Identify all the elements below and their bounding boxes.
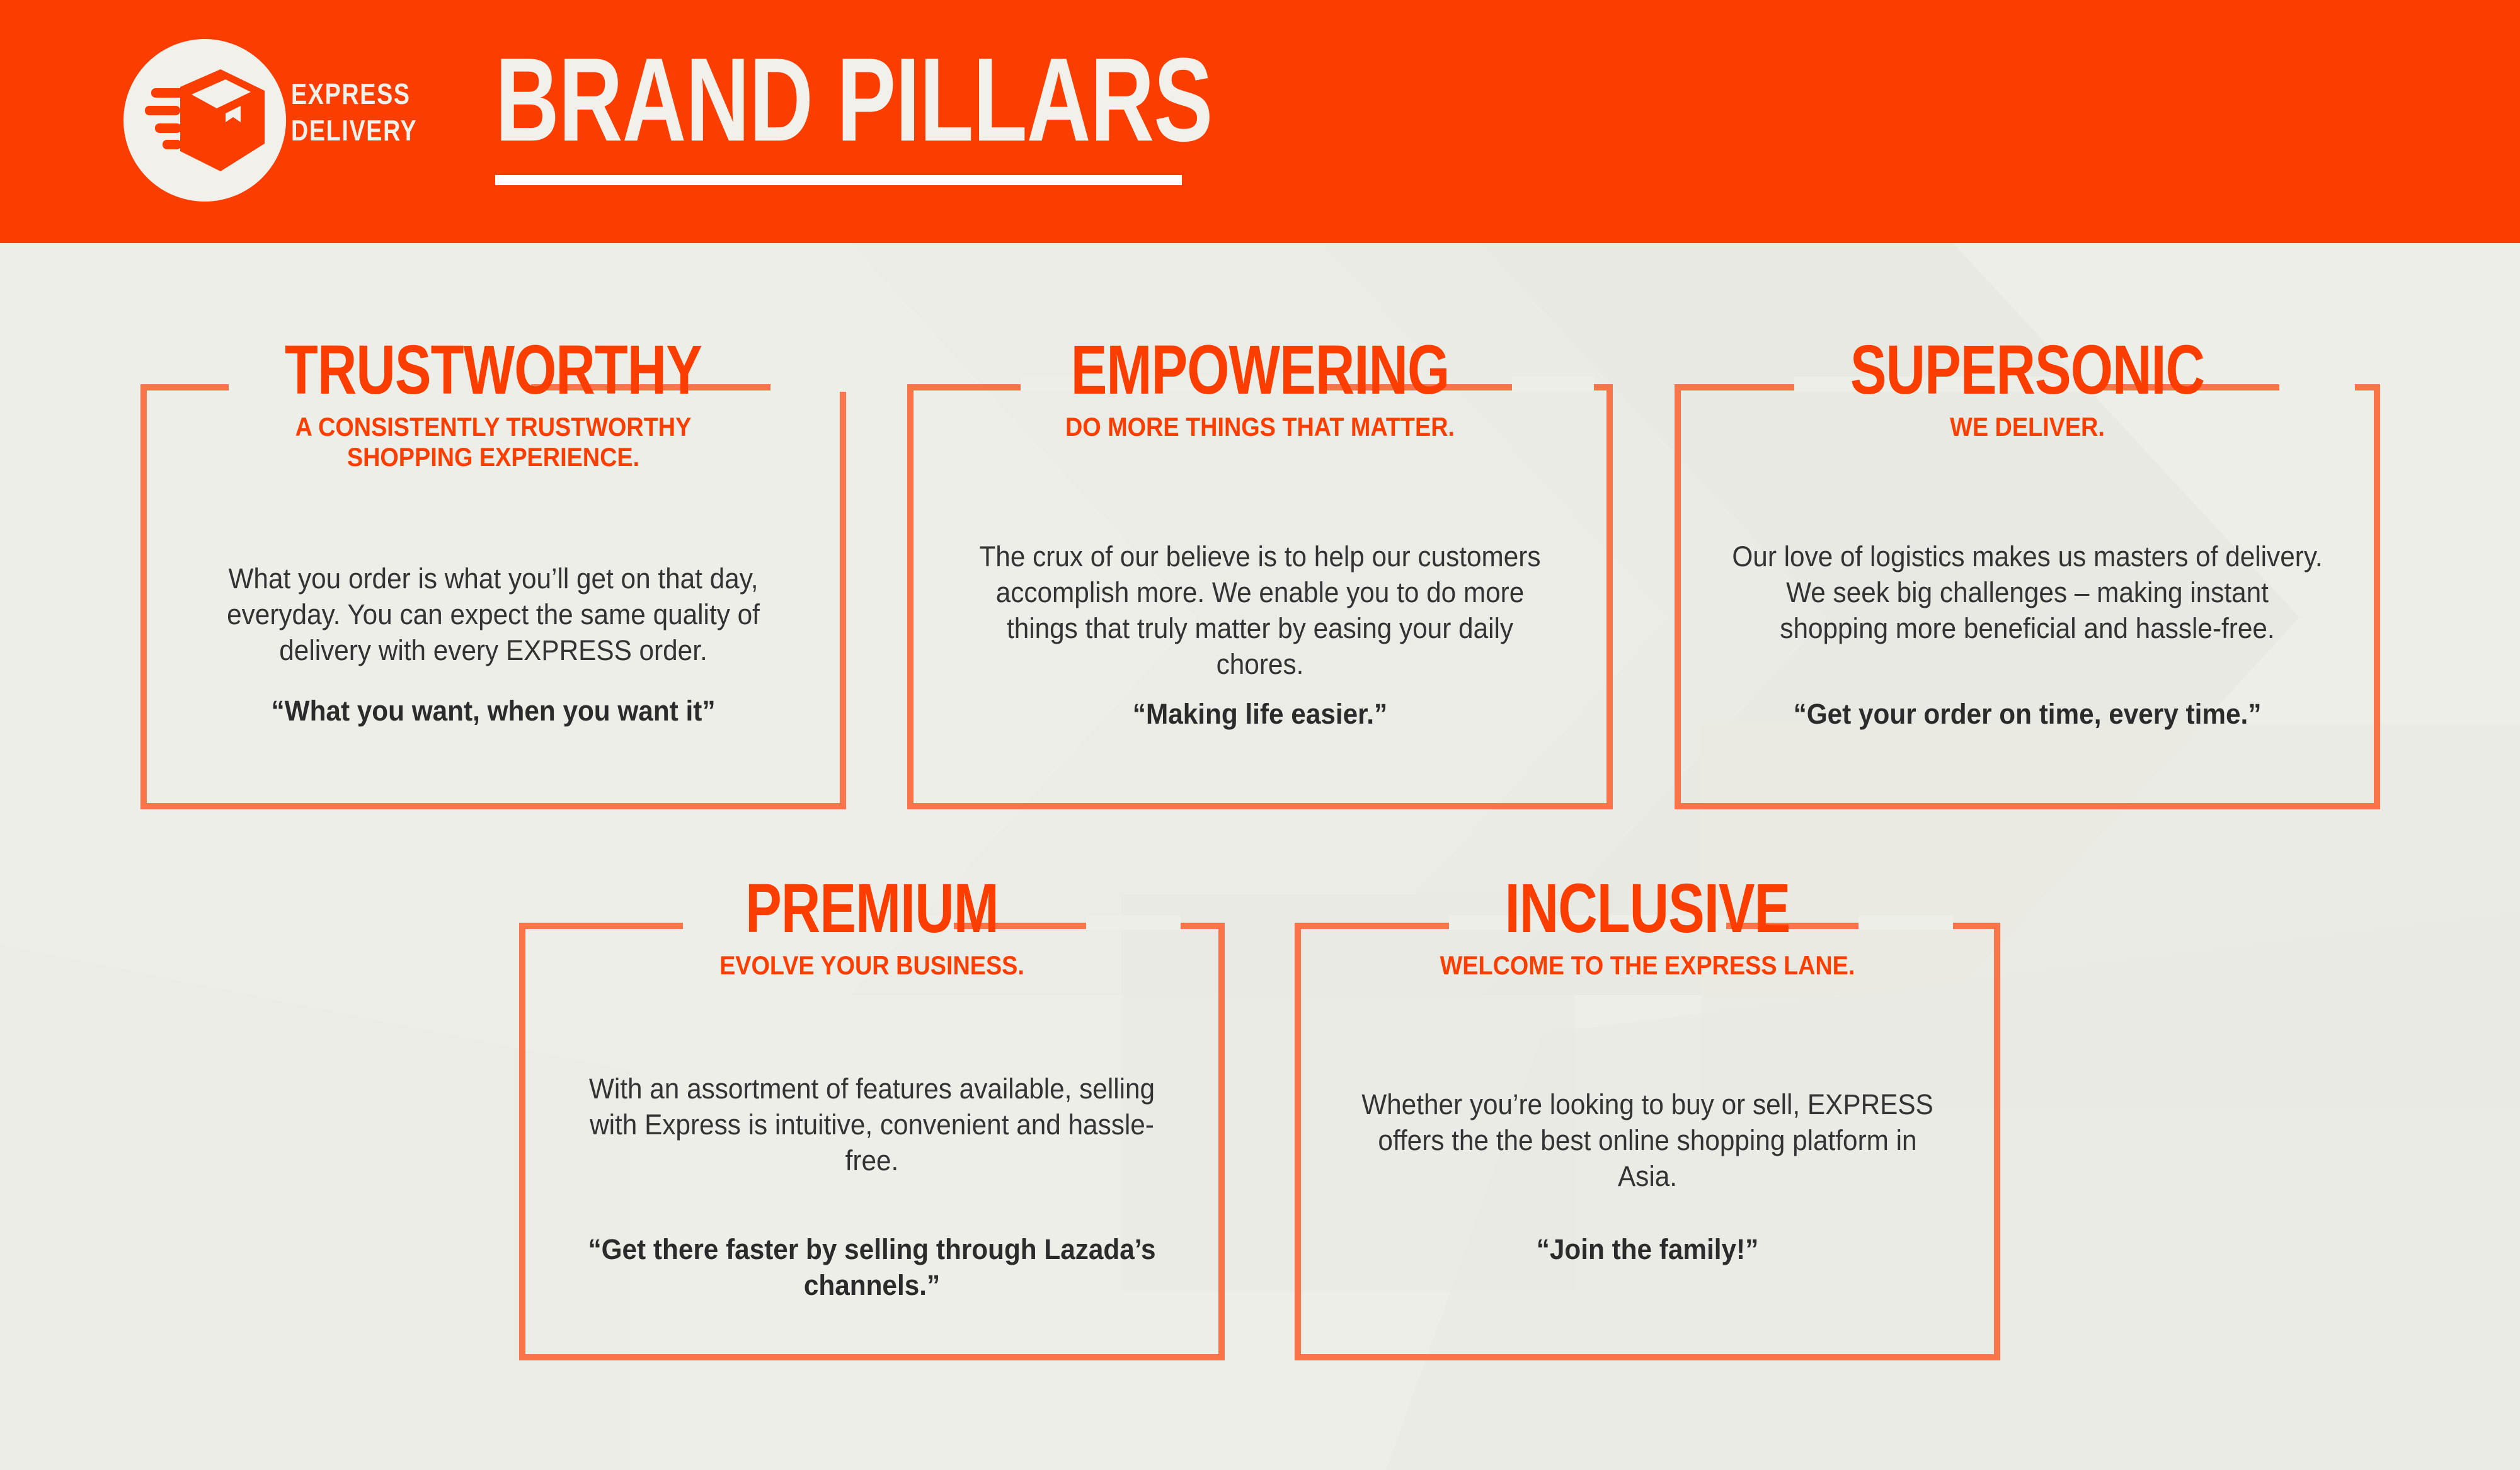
card-title: EMPOWERING: [942, 336, 1578, 405]
header-bar: EXPRESS DELIVERY BRAND PILLARS: [0, 0, 2520, 243]
card-quote-text: “What you want, when you want it”: [192, 693, 796, 729]
card-body-text: The crux of our believe is to help our c…: [964, 538, 1556, 682]
card-header: TRUSTWORTHY A CONSISTENTLY TRUSTWORTHY S…: [140, 340, 846, 472]
pillar-card-trustworthy: TRUSTWORTHY A CONSISTENTLY TRUSTWORTHY S…: [140, 340, 846, 809]
card-body-text: With an assortment of features available…: [576, 1071, 1168, 1178]
card-title: PREMIUM: [554, 874, 1189, 943]
card-quote-text: “Get there faster by selling through Laz…: [570, 1231, 1174, 1303]
card-quote-text: “Get your order on time, every time.”: [1726, 696, 2330, 732]
page-title: BRAND PILLARS: [495, 40, 1212, 159]
card-header: INCLUSIVE WELCOME TO THE EXPRESS LANE.: [1295, 879, 2000, 981]
card-quote-text: “Join the family!”: [1346, 1231, 1950, 1267]
logo-wordmark-line2: DELIVERY: [291, 112, 420, 149]
brand-logo: [123, 39, 286, 202]
pillar-card-premium: PREMIUM EVOLVE YOUR BUSINESS. With an as…: [519, 879, 1225, 1360]
card-body-text: Our love of logistics makes us masters o…: [1731, 538, 2323, 646]
pillar-card-supersonic: SUPERSONIC WE DELIVER. Our love of logis…: [1675, 340, 2380, 809]
pillar-card-inclusive: INCLUSIVE WELCOME TO THE EXPRESS LANE. W…: [1295, 879, 2000, 1360]
card-title: TRUSTWORTHY: [176, 336, 811, 405]
card-subtitle: WE DELIVER.: [1710, 412, 2345, 442]
logo-wordmark-line1: EXPRESS: [291, 76, 420, 112]
card-header: EMPOWERING DO MORE THINGS THAT MATTER.: [907, 340, 1613, 442]
card-subtitle: EVOLVE YOUR BUSINESS.: [554, 950, 1189, 981]
card-header: SUPERSONIC WE DELIVER.: [1675, 340, 2380, 442]
card-quote-text: “Making life easier.”: [958, 696, 1562, 732]
card-header: PREMIUM EVOLVE YOUR BUSINESS.: [519, 879, 1225, 981]
card-subtitle: A CONSISTENTLY TRUSTWORTHY SHOPPING EXPE…: [176, 412, 811, 472]
logo-wordmark: EXPRESS DELIVERY: [291, 76, 420, 149]
card-body-text: Whether you’re looking to buy or sell, E…: [1351, 1086, 1944, 1194]
pillar-card-empowering: EMPOWERING DO MORE THINGS THAT MATTER. T…: [907, 340, 1613, 809]
card-subtitle: WELCOME TO THE EXPRESS LANE.: [1330, 950, 1965, 981]
page-title-underline: [495, 175, 1182, 185]
card-title: INCLUSIVE: [1330, 874, 1965, 943]
card-body-text: What you order is what you’ll get on tha…: [197, 561, 789, 668]
delivery-box-icon: [145, 69, 265, 171]
card-title: SUPERSONIC: [1710, 336, 2345, 405]
card-subtitle: DO MORE THINGS THAT MATTER.: [942, 412, 1578, 442]
